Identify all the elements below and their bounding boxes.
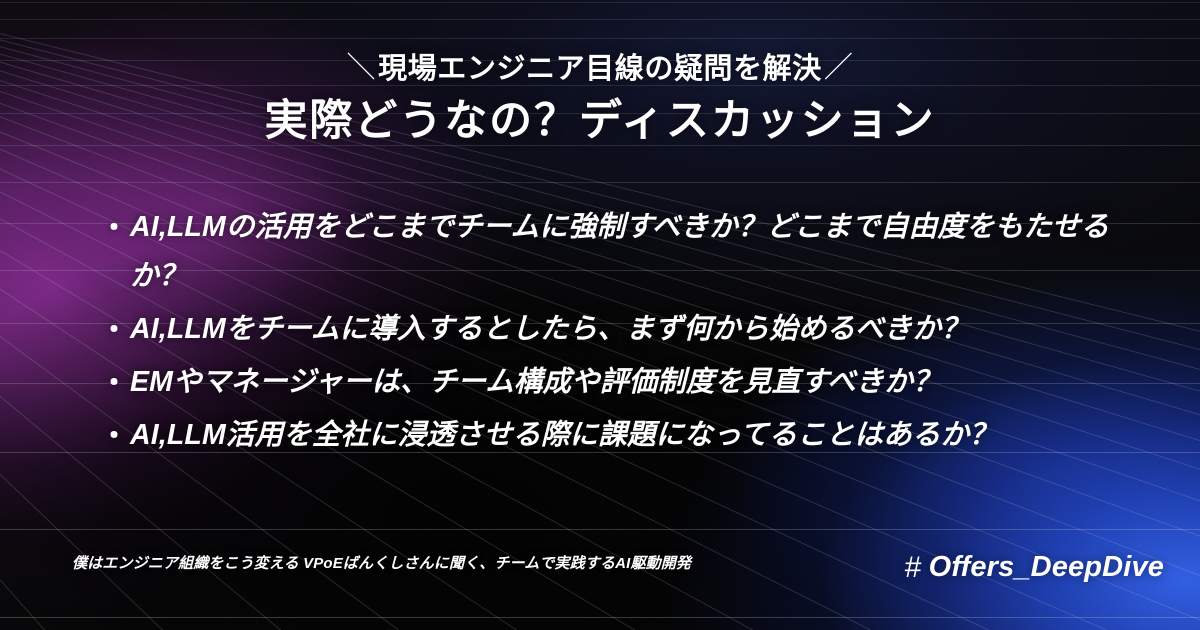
brand-logo: # Offers_DeepDive [905, 550, 1164, 584]
list-item-text: AI,LLM活用を全社に浸透させる際に課題になってることはあるか？ [130, 411, 1110, 460]
bullet-marker-icon: ・ [100, 305, 130, 354]
list-item-text: EMやマネージャーは、チーム構成や評価制度を見直すべきか？ [130, 358, 1110, 407]
bullet-marker-icon: ・ [100, 203, 130, 252]
hash-icon: # [905, 551, 922, 585]
list-item: ・ AI,LLMをチームに導入するとしたら、まず何から始めるべきか？ [100, 305, 1110, 354]
slash-left-decoration: ＼ [345, 51, 379, 86]
page-title: 実際どうなの？ディスカッション [0, 95, 1200, 147]
slash-right-decoration: ／ [822, 51, 856, 86]
list-item: ・ AI,LLMの活用をどこまでチームに強制すべきか？どこまで自由度をもたせるか… [100, 203, 1110, 301]
bullet-marker-icon: ・ [100, 411, 130, 460]
slide-content: ＼現場エンジニア目線の疑問を解決／ 実際どうなの？ディスカッション ・ AI,L… [0, 0, 1200, 630]
brand-name: Offers_DeepDive [929, 550, 1164, 584]
slide-canvas: ＼現場エンジニア目線の疑問を解決／ 実際どうなの？ディスカッション ・ AI,L… [0, 0, 1200, 630]
bullet-marker-icon: ・ [100, 358, 130, 407]
eyebrow-text: 現場エンジニア目線の疑問を解決 [378, 53, 822, 85]
title-block: ＼現場エンジニア目線の疑問を解決／ 実際どうなの？ディスカッション [0, 52, 1200, 147]
footer-session-title: 僕はエンジニア組織をこう変える VPoEばんくしさんに聞く、チームで実践するAI… [72, 552, 691, 576]
list-item-text: AI,LLMをチームに導入するとしたら、まず何から始めるべきか？ [130, 305, 1110, 354]
list-item: ・ AI,LLM活用を全社に浸透させる際に課題になってることはあるか？ [100, 411, 1110, 460]
eyebrow-line: ＼現場エンジニア目線の疑問を解決／ [0, 52, 1200, 87]
list-item: ・ EMやマネージャーは、チーム構成や評価制度を見直すべきか？ [100, 358, 1110, 407]
discussion-topics-list: ・ AI,LLMの活用をどこまでチームに強制すべきか？どこまで自由度をもたせるか… [100, 203, 1110, 464]
list-item-text: AI,LLMの活用をどこまでチームに強制すべきか？どこまで自由度をもたせるか？ [130, 203, 1110, 301]
